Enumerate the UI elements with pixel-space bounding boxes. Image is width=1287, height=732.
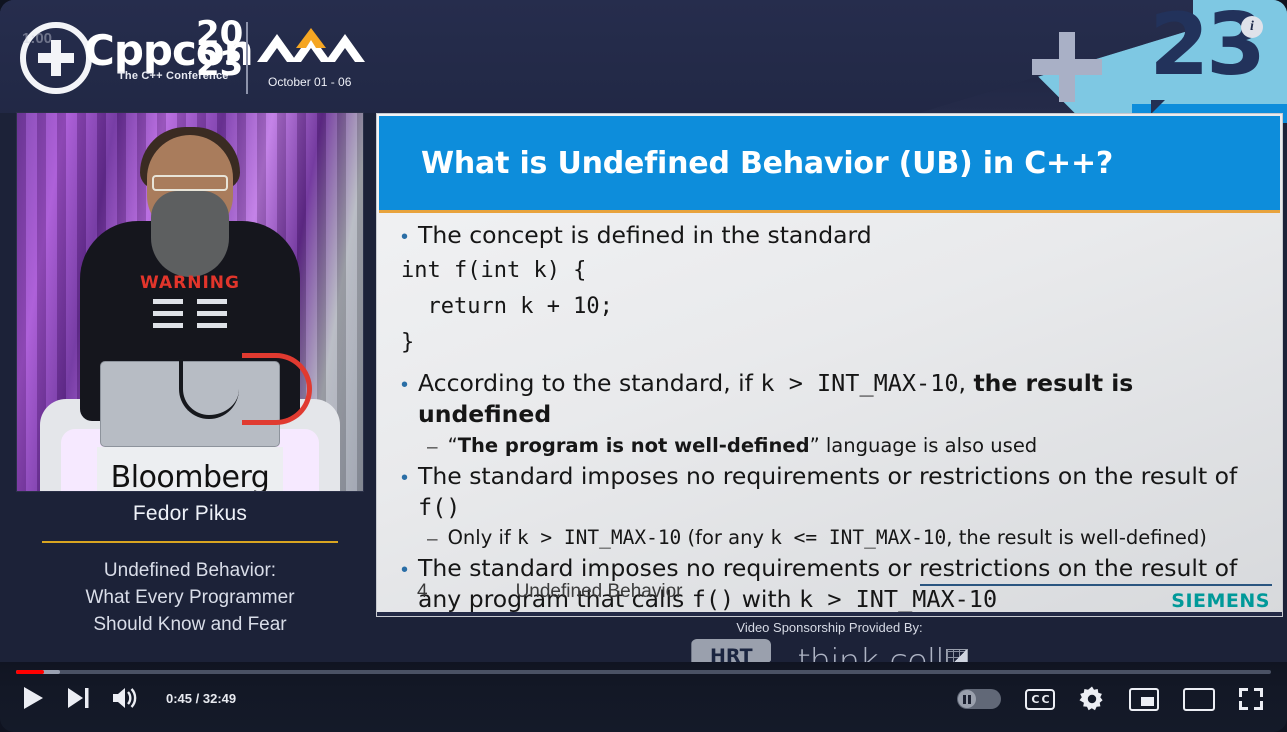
- bullet-3-pre: The standard imposes no requirements or …: [418, 462, 1237, 490]
- slide-bullet-3-text: The standard imposes no requirements or …: [418, 461, 1272, 524]
- progress-played: [16, 670, 44, 674]
- banner-year: 20 23: [196, 20, 243, 80]
- talk-title: Undefined Behavior: What Every Programme…: [16, 558, 364, 639]
- mountains-icon: [255, 20, 367, 64]
- banner-divider: [246, 22, 248, 94]
- time-display: 0:45 / 32:49: [166, 691, 236, 706]
- bullet-dot: •: [401, 227, 408, 247]
- sub-3-code-1: k > INT_MAX-10: [517, 526, 681, 549]
- slide-subbullet-3-text: Only if k > INT_MAX-10 (for any k <= INT…: [448, 525, 1207, 551]
- red-cable: [242, 353, 312, 425]
- captions-button[interactable]: CC: [1025, 689, 1055, 710]
- video-frame[interactable]: 1:00 Cppcon The C++ Conference 20 23: [0, 0, 1287, 662]
- glasses-icon: [152, 175, 228, 191]
- shirt-warning-text: WARNING: [140, 273, 240, 293]
- slide-subbullet-3: – Only if k > INT_MAX-10 (for any k <= I…: [389, 525, 1272, 551]
- shirt-graphic: [147, 295, 233, 339]
- slide-accent-rule: [379, 210, 1280, 213]
- slide-bullet-2: • According to the standard, if k > INT_…: [389, 368, 1272, 431]
- bullet-dot: •: [401, 468, 408, 488]
- thinkcell-grid-icon: [946, 649, 968, 662]
- sub-bullet-dash: –: [427, 529, 438, 551]
- captions-letter-left: C: [1031, 694, 1038, 705]
- autoplay-toggle[interactable]: [957, 689, 1001, 709]
- controls-right: CC: [957, 686, 1263, 712]
- sponsorship-section: Video Sponsorship Provided By: HRT hudso…: [376, 620, 1283, 662]
- slide-title: What is Undefined Behavior (UB) in C++?: [421, 146, 1113, 181]
- bullet-2-pre: According to the standard, if: [418, 369, 760, 397]
- video-player: 1:00 Cppcon The C++ Conference 20 23: [0, 0, 1287, 732]
- slide-bullet-3: • The standard imposes no requirements o…: [389, 461, 1272, 524]
- sub-bullet-dash: –: [427, 437, 438, 459]
- controls-left: 0:45 / 32:49: [22, 686, 236, 710]
- divider-rule: [42, 541, 338, 543]
- bullet-dot: •: [401, 375, 408, 395]
- volume-button[interactable]: [112, 686, 138, 710]
- bullet-3-code: f(): [418, 493, 460, 521]
- talk-title-line-3: Should Know and Fear: [16, 612, 364, 639]
- slide-page-number: 4: [417, 581, 428, 603]
- talk-title-line-1: Undefined Behavior:: [16, 558, 364, 585]
- theater-mode-button[interactable]: [1183, 688, 1215, 711]
- slide-footer-title: Undefined Behavior: [516, 581, 683, 603]
- sub-2-emphasis: The program is not well-defined: [458, 434, 810, 457]
- sponsorship-label: Video Sponsorship Provided By:: [376, 620, 1283, 635]
- speaker-name: Fedor Pikus: [16, 502, 364, 526]
- podium-plate: Bloomberg: [97, 447, 283, 491]
- banner-year-bottom: 23: [196, 50, 243, 80]
- hrt-logo: HRT: [691, 639, 771, 662]
- sub-2-rest: ” language is also used: [810, 434, 1038, 457]
- fullscreen-button[interactable]: [1239, 688, 1263, 710]
- sub-3-pre: Only if: [448, 526, 517, 549]
- conference-banner: 1:00 Cppcon The C++ Conference 20 23: [0, 0, 1287, 113]
- sub-2-open-quote: “: [448, 434, 458, 457]
- talk-title-line-2: What Every Programmer: [16, 585, 364, 612]
- presentation-slide: What is Undefined Behavior (UB) in C++? …: [376, 113, 1283, 617]
- slide-subbullet-2-text: “The program is not well-defined” langua…: [448, 433, 1038, 459]
- slide-bullet-1: • The concept is defined in the standard: [389, 220, 1272, 251]
- sub-3-code-2: k <= INT_MAX-10: [770, 526, 946, 549]
- slide-body: • The concept is defined in the standard…: [389, 220, 1272, 617]
- conference-dates: October 01 - 06: [268, 75, 351, 89]
- next-video-button[interactable]: [66, 687, 90, 709]
- player-controls: 0:45 / 32:49 CC: [0, 662, 1287, 732]
- code-line-2: return k + 10;: [389, 289, 1272, 325]
- bullet-2-code: k > INT_MAX-10: [760, 369, 958, 397]
- badge-year: 23: [1149, 2, 1263, 88]
- info-icon[interactable]: i: [1241, 16, 1263, 38]
- thinkcell-sponsor: think-cell: [797, 642, 967, 662]
- slide-bottom-edge: [377, 612, 1282, 616]
- code-line-1: int f(int k) {: [389, 253, 1272, 289]
- speaker-panel: WARNING Bloomberg Fedor Pikus Undefined …: [16, 112, 364, 640]
- plus-icon: [1032, 32, 1102, 102]
- slide-bullet-2-text: According to the standard, if k > INT_MA…: [418, 368, 1272, 431]
- siemens-logo: SIEMENS: [1171, 590, 1270, 612]
- bullet-2-mid: ,: [959, 369, 974, 397]
- sub-3-post: , the result is well-defined): [946, 526, 1207, 549]
- sponsor-logos: HRT hudson river trading think-cell: [376, 639, 1283, 662]
- play-button[interactable]: [22, 686, 44, 710]
- black-cable: [179, 359, 239, 419]
- time-watermark: 1:00: [22, 30, 52, 47]
- hrt-sponsor: HRT hudson river trading: [691, 639, 771, 662]
- settings-button[interactable]: [1079, 686, 1105, 712]
- progress-bar[interactable]: [16, 670, 1271, 674]
- podium-brand-text: Bloomberg: [111, 460, 270, 492]
- slide-subbullet-2: – “The program is not well-defined” lang…: [389, 433, 1272, 459]
- captions-letter-right: C: [1042, 694, 1049, 705]
- slide-bullet-1-text: The concept is defined in the standard: [418, 220, 872, 251]
- autoplay-knob: [958, 690, 976, 708]
- speaker-camera-feed: WARNING Bloomberg: [16, 112, 364, 492]
- sub-3-mid: (for any: [681, 526, 770, 549]
- slide-title-bar: What is Undefined Behavior (UB) in C++?: [379, 116, 1280, 210]
- code-line-3: }: [389, 325, 1272, 361]
- miniplayer-button[interactable]: [1129, 688, 1159, 711]
- slide-footer: 4 Undefined Behavior: [379, 570, 1280, 614]
- speaker-beard: [151, 191, 229, 277]
- thinkcell-logo: think-cell: [797, 642, 943, 662]
